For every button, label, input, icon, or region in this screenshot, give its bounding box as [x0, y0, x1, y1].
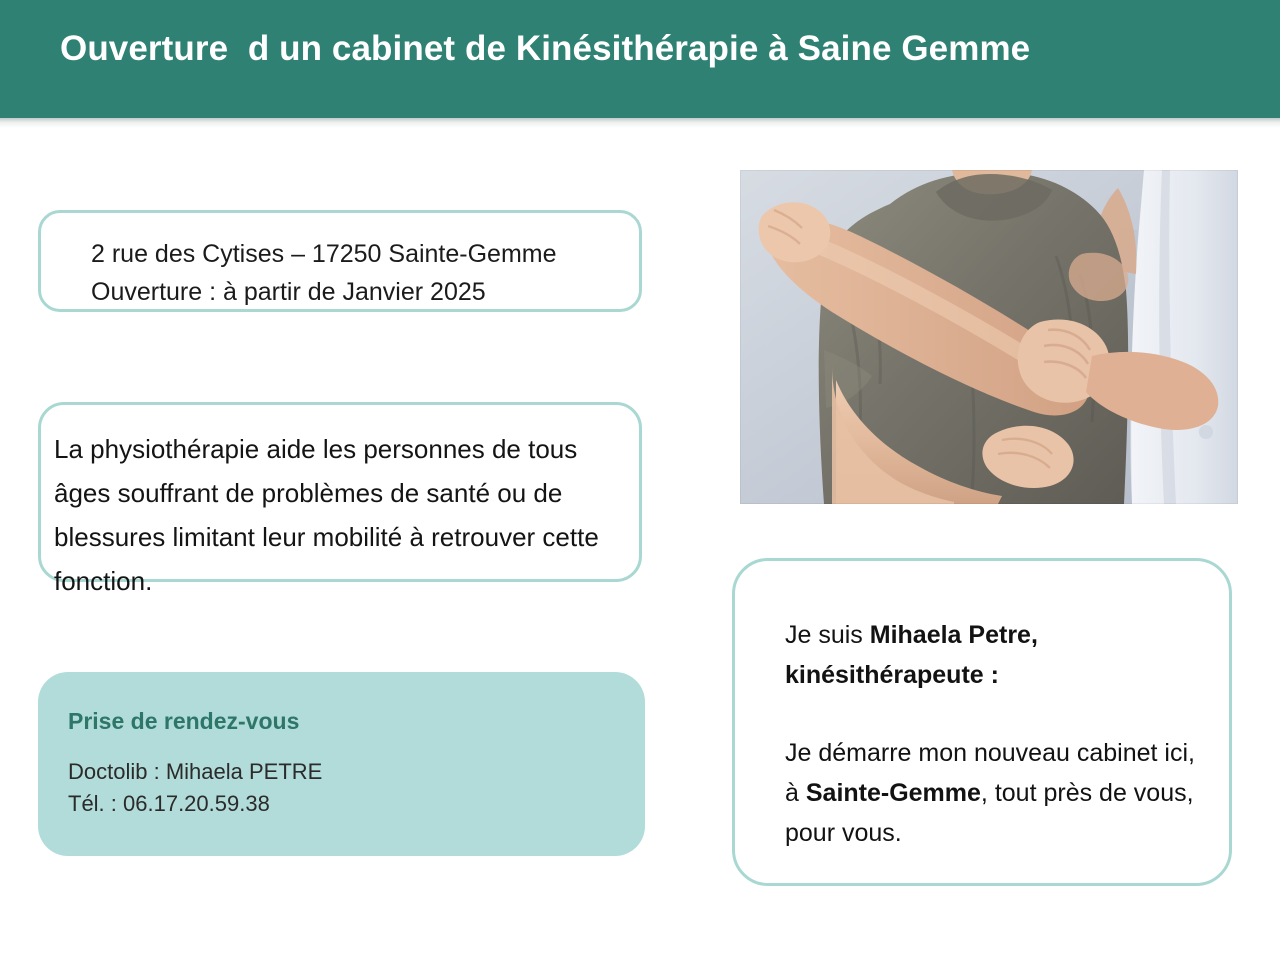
bio-intro-plain: Je suis: [785, 621, 870, 649]
header-banner-shadow: [0, 118, 1280, 128]
appointment-card[interactable]: Prise de rendez-vous Doctolib : Mihaela …: [38, 672, 645, 856]
description-text: La physiothérapie aide les personnes de …: [54, 427, 614, 603]
address-card: 2 rue des Cytises – 17250 Sainte-Gemme O…: [38, 210, 642, 312]
physiotherapy-photo-illustration: [740, 170, 1238, 504]
appointment-heading: Prise de rendez-vous: [68, 708, 299, 735]
bio-paragraph-gap: [785, 695, 1197, 733]
physiotherapy-photo: [740, 170, 1238, 504]
bio-text: Je suis Mihaela Petre, kinésithérapeute …: [785, 615, 1197, 853]
page-title: Ouverture d un cabinet de Kinésithérapie…: [60, 26, 1220, 72]
address-line-1: 2 rue des Cytises – 17250 Sainte-Gemme: [91, 235, 557, 273]
appointment-doctolib: Doctolib : Mihaela PETRE: [68, 756, 322, 788]
address-line-2: Ouverture : à partir de Janvier 2025: [91, 273, 486, 311]
slide-canvas: Ouverture d un cabinet de Kinésithérapie…: [0, 0, 1280, 960]
bio-card: Je suis Mihaela Petre, kinésithérapeute …: [732, 558, 1232, 886]
appointment-phone: Tél. : 06.17.20.59.38: [68, 788, 270, 820]
bio-body-bold: Sainte-Gemme: [806, 779, 981, 807]
description-card: La physiothérapie aide les personnes de …: [38, 402, 642, 582]
